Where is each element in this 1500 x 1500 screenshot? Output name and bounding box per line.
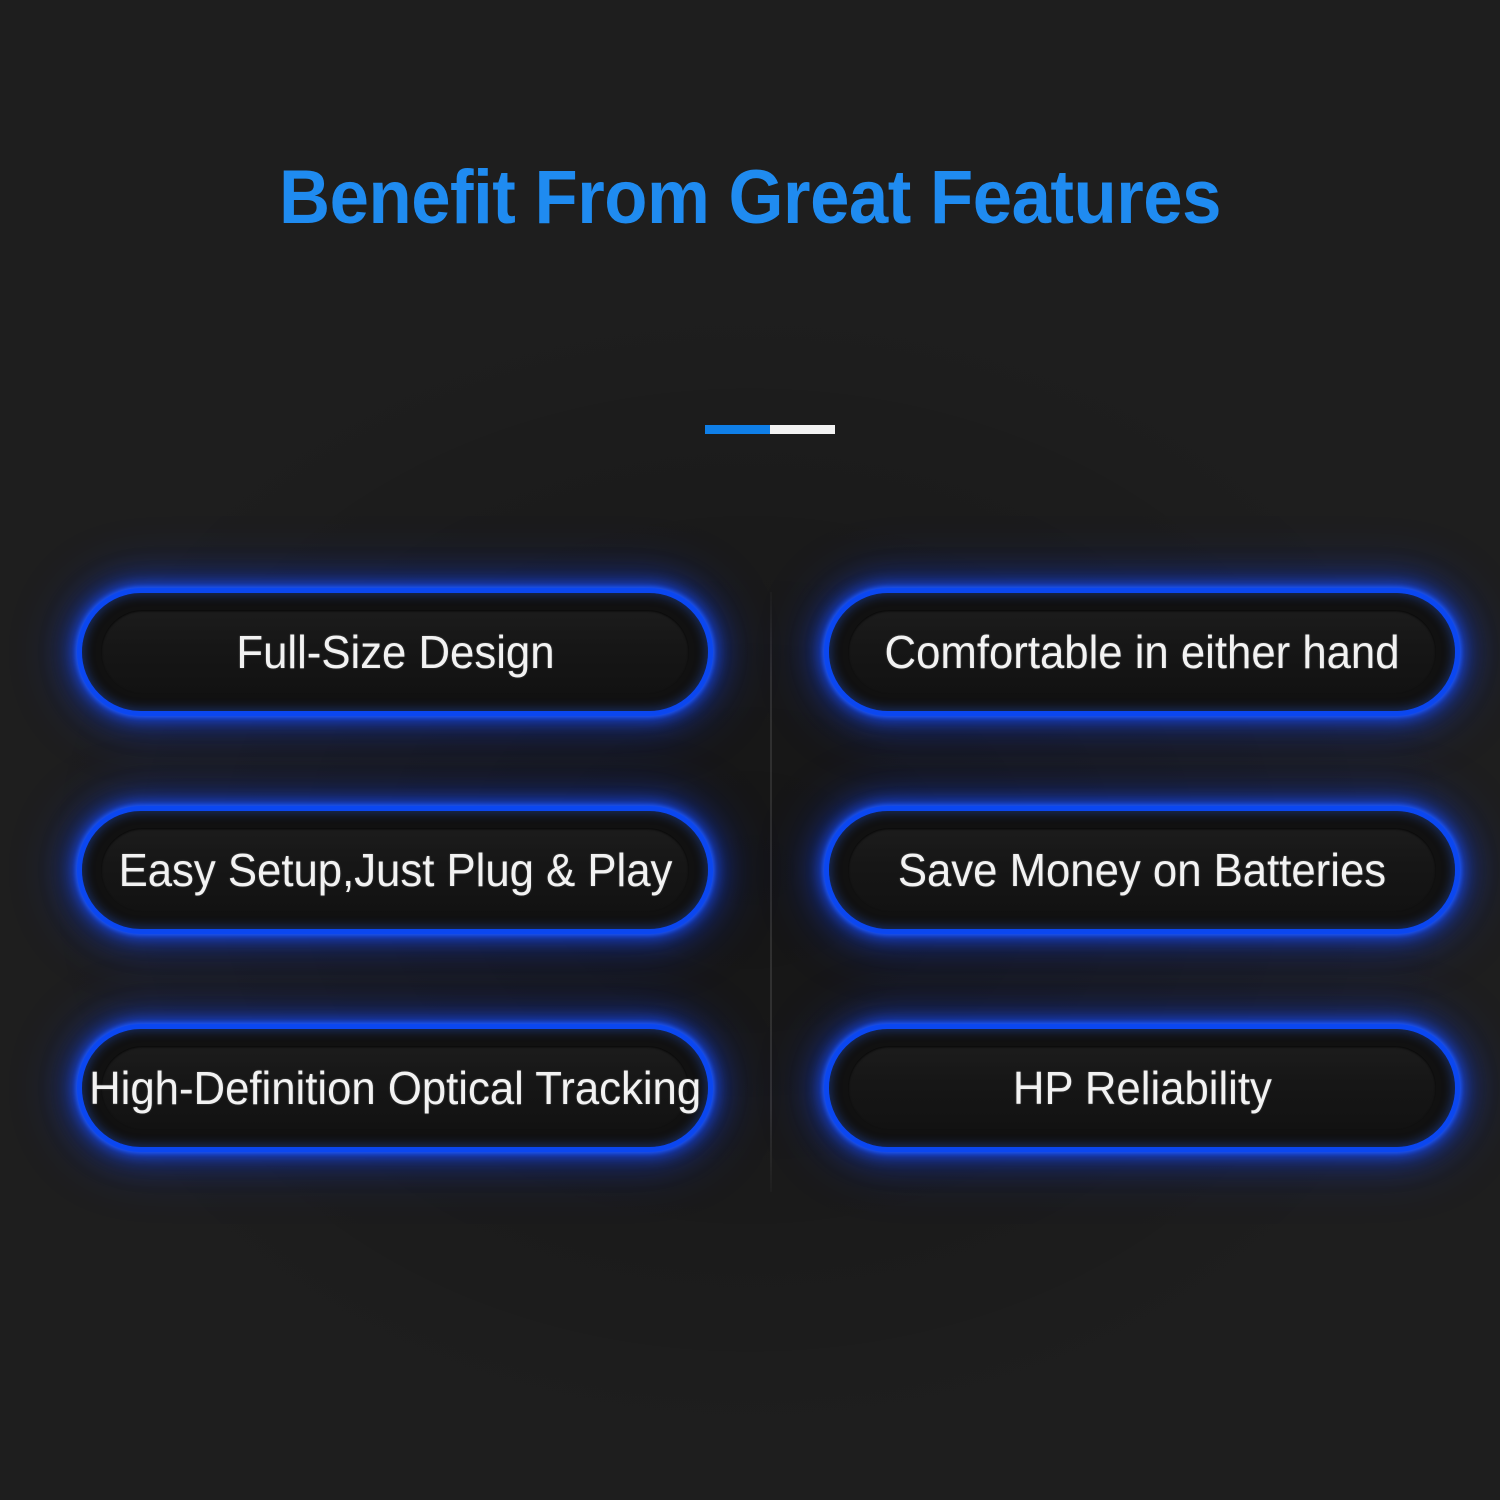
feature-highlight-page: Benefit From Great Features Full-Size De… [0,0,1500,1500]
divider-segment-blue [705,425,770,434]
feature-pill-label: Easy Setup,Just Plug & Play [118,847,672,893]
feature-pill-full-size-design[interactable]: Full-Size Design [77,588,713,716]
feature-pill-inner: High-Definition Optical Tracking [101,1046,689,1130]
feature-pill-save-money-batteries[interactable]: Save Money on Batteries [824,806,1460,934]
feature-pill-easy-setup[interactable]: Easy Setup,Just Plug & Play [77,806,713,934]
feature-pill-inner: HP Reliability [848,1046,1436,1130]
feature-pill-inner: Full-Size Design [101,610,689,694]
feature-pill-label: Full-Size Design [236,629,554,675]
feature-pill-inner: Save Money on Batteries [848,828,1436,912]
feature-pill-comfortable-either-hand[interactable]: Comfortable in either hand [824,588,1460,716]
feature-pill-optical-tracking[interactable]: High-Definition Optical Tracking [77,1024,713,1152]
feature-pill-label: Save Money on Batteries [898,847,1386,893]
page-title: Benefit From Great Features [53,160,1448,236]
feature-pill-label: Comfortable in either hand [884,629,1399,675]
feature-pill-inner: Easy Setup,Just Plug & Play [101,828,689,912]
title-divider-bar [705,425,835,434]
feature-pill-inner: Comfortable in either hand [848,610,1436,694]
feature-column-right: Comfortable in either hand Save Money on… [824,588,1460,1152]
divider-segment-white [770,425,835,434]
header: Benefit From Great Features [0,160,1500,236]
feature-list: Full-Size Design Easy Setup,Just Plug & … [0,588,1500,1208]
feature-pill-label: High-Definition Optical Tracking [89,1065,701,1111]
feature-pill-hp-reliability[interactable]: HP Reliability [824,1024,1460,1152]
feature-column-left: Full-Size Design Easy Setup,Just Plug & … [77,588,713,1152]
feature-pill-label: HP Reliability [1012,1065,1271,1111]
